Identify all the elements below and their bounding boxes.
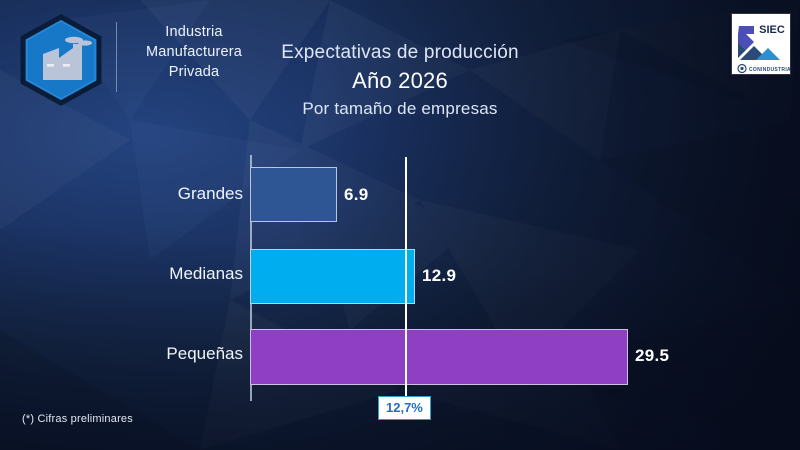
bar-grandes[interactable] bbox=[250, 167, 337, 222]
category-label-grandes: Grandes bbox=[100, 184, 243, 204]
bar-value-grandes: 6.9 bbox=[344, 185, 369, 205]
bar-value-pequenas: 29.5 bbox=[635, 346, 669, 366]
category-label-pequenas: Pequeñas bbox=[100, 344, 243, 364]
category-label-medianas: Medianas bbox=[100, 264, 243, 284]
bar-pequenas[interactable] bbox=[250, 329, 628, 385]
reference-line-label: 12,7% bbox=[378, 396, 431, 420]
footnote: (*) Cifras preliminares bbox=[22, 413, 133, 425]
slide-canvas: Industria Manufacturera Privada Expectat… bbox=[0, 0, 800, 450]
reference-line bbox=[405, 157, 407, 401]
bar-value-medianas: 12.9 bbox=[422, 266, 456, 286]
bar-chart: Grandes 6.9 Medianas 12.9 Pequeñas 29.5 … bbox=[0, 0, 800, 450]
bar-medianas[interactable] bbox=[250, 249, 415, 304]
